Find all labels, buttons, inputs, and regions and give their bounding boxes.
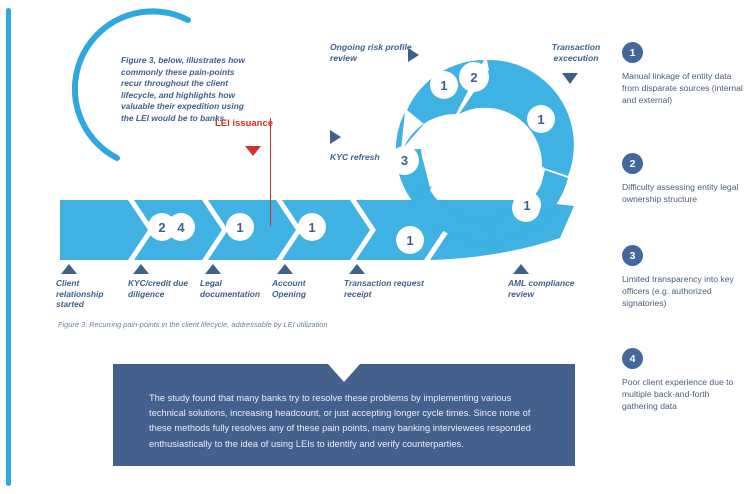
label-transaction-execution: Transaction excecution bbox=[534, 42, 618, 65]
quote-box-notch bbox=[328, 364, 360, 382]
stage-badge-2b: 4 bbox=[167, 213, 195, 241]
quote-box: The study found that many banks try to r… bbox=[113, 364, 575, 466]
stage-badge-5: 1 bbox=[396, 226, 424, 254]
pain-point-2-number: 2 bbox=[622, 153, 643, 174]
cycle-badge-1: 1 bbox=[430, 71, 458, 99]
cycle-badge-2: 2 bbox=[459, 62, 489, 92]
ongoing-risk-arrow-icon bbox=[408, 48, 419, 62]
pain-point-4: 4 Poor client experience due to multiple… bbox=[622, 348, 744, 412]
stage-badge-3: 1 bbox=[226, 213, 254, 241]
stage-marker-5-icon bbox=[349, 264, 365, 274]
stage-marker-1-icon bbox=[61, 264, 77, 274]
pain-point-1-number: 1 bbox=[622, 42, 643, 63]
pain-point-4-number: 4 bbox=[622, 348, 643, 369]
stage-label-5: Transaction request receipt bbox=[344, 278, 436, 299]
pain-point-1-text: Manual linkage of entity data from dispa… bbox=[622, 71, 744, 106]
pain-point-1: 1 Manual linkage of entity data from dis… bbox=[622, 42, 744, 106]
stage-label-3: Legal documentation bbox=[200, 278, 262, 299]
stage-label-2: KYC/credit due diligence bbox=[128, 278, 194, 299]
cycle-badge-3: 3 bbox=[390, 146, 419, 175]
transaction-execution-arrow-icon bbox=[562, 73, 578, 84]
pain-point-2: 2 Difficulty assessing entity legal owne… bbox=[622, 153, 744, 206]
stage-label-6: AML compliance review bbox=[508, 278, 600, 299]
figure-caption: Figure 3: Recurring pain-points in the c… bbox=[58, 320, 328, 329]
pain-point-3: 3 Limited transparency into key officers… bbox=[622, 245, 744, 309]
lei-issuance-connector-line bbox=[270, 118, 271, 226]
stage-marker-6-icon bbox=[513, 264, 529, 274]
lei-issuance-triangle-icon bbox=[245, 146, 261, 156]
pain-point-3-number: 3 bbox=[622, 245, 643, 266]
lei-issuance-label: LEI issuance bbox=[213, 118, 275, 131]
pain-point-3-text: Limited transparency into key officers (… bbox=[622, 274, 744, 309]
kyc-refresh-arrow-icon bbox=[330, 130, 341, 144]
stage-badge-4: 1 bbox=[298, 213, 326, 241]
stage-label-4: Account Opening bbox=[272, 278, 334, 299]
lei-issuance-marker: LEI issuance bbox=[212, 118, 308, 228]
stage-marker-4-icon bbox=[277, 264, 293, 274]
stage-marker-2-icon bbox=[133, 264, 149, 274]
cycle-badge-4: 1 bbox=[527, 105, 555, 133]
label-ongoing-risk-profile-review: Ongoing risk profile review bbox=[330, 42, 420, 65]
stage-marker-3-icon bbox=[205, 264, 221, 274]
chevron-stage-1[interactable] bbox=[60, 200, 148, 260]
quote-text: The study found that many banks try to r… bbox=[149, 391, 545, 452]
cycle-badge-5: 1 bbox=[513, 191, 541, 219]
stage-label-1: Client relationship started bbox=[56, 278, 120, 310]
pain-point-4-text: Poor client experience due to multiple b… bbox=[622, 377, 744, 412]
pain-point-2-text: Difficulty assessing entity legal owners… bbox=[622, 182, 744, 206]
